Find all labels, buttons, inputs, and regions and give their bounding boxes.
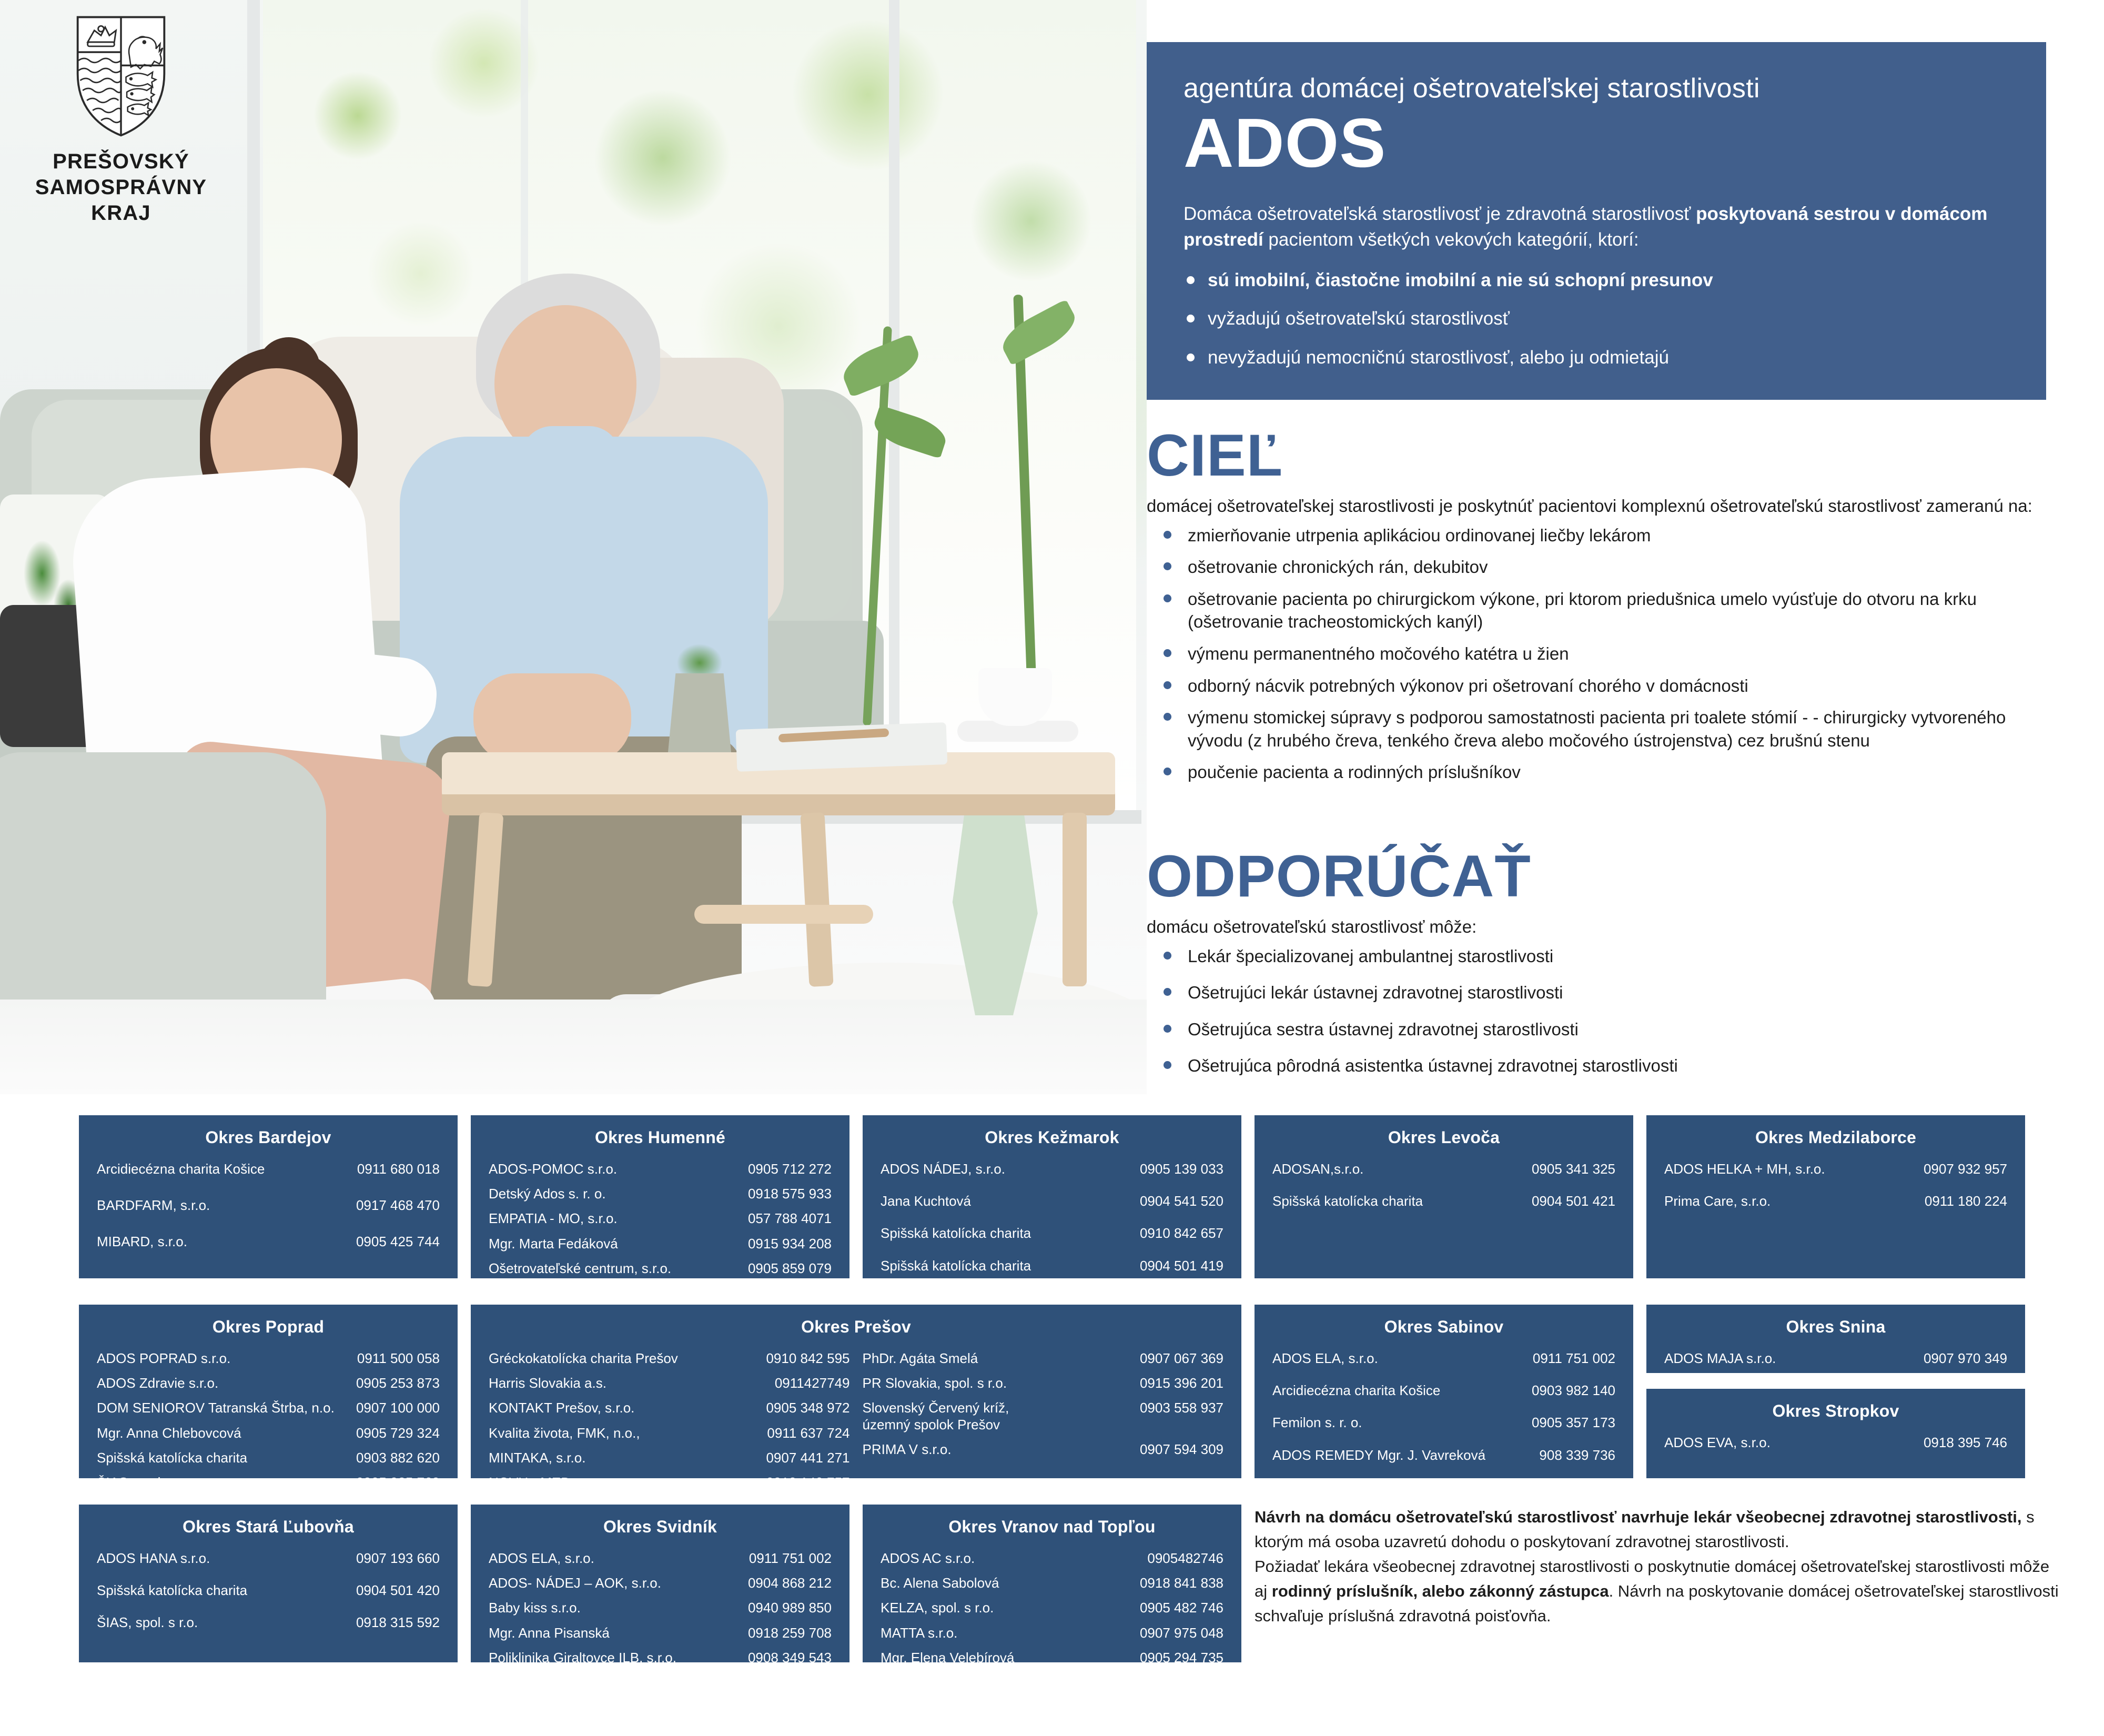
header-lead-part1: Domáca ošetrovateľská starostlivosť je z… bbox=[1183, 204, 1696, 224]
list-item: Ošetrujúci lekár ústavnej zdravotnej sta… bbox=[1147, 981, 2062, 1004]
provider-name: ADOS AC s.r.o. bbox=[881, 1550, 975, 1567]
provider-name: PR Slovakia, spol. s r.o. bbox=[863, 1375, 1007, 1391]
table-row: BARDFARM, s.r.o.0917 468 470 bbox=[97, 1197, 440, 1214]
district-card-levoca: Okres LevočaADOSAN,s.r.o.0905 341 325Spi… bbox=[1255, 1115, 1633, 1278]
provider-phone[interactable]: 0903 558 937 bbox=[1140, 1400, 1223, 1416]
provider-name: ŠIAS, spol. s r.o. bbox=[97, 1475, 198, 1491]
provider-phone[interactable]: 0910 842 657 bbox=[1140, 1225, 1223, 1242]
provider-name: MIBARD, s.r.o. bbox=[97, 1234, 187, 1250]
odporucat-bullet-list: Lekár špecializovanej ambulantnej staros… bbox=[1147, 945, 2062, 1077]
district-card-title: Okres Prešov bbox=[489, 1317, 1223, 1337]
provider-phone[interactable]: 0940 989 850 bbox=[748, 1600, 832, 1616]
provider-name: Mgr. Marta Fedáková bbox=[489, 1236, 618, 1252]
provider-table: ADOS NÁDEJ, s.r.o.0905 139 033Jana Kucht… bbox=[881, 1161, 1223, 1290]
table-row: ADOSAN,s.r.o.0905 341 325 bbox=[1272, 1161, 1615, 1177]
district-card-title: Okres Bardejov bbox=[97, 1128, 440, 1147]
provider-phone[interactable]: 0904 868 212 bbox=[748, 1575, 832, 1591]
district-card-stara-lubovna: Okres Stará ĽubovňaADOS HANA s.r.o.0907 … bbox=[79, 1505, 458, 1662]
table-row: PhDr. Agáta Smelá0907 067 369 bbox=[863, 1350, 1224, 1367]
window-frame-right bbox=[889, 0, 899, 784]
provider-name: Gréckokatolícka charita Prešov bbox=[489, 1350, 678, 1367]
provider-name: KONTAKT Prešov, s.r.o. bbox=[489, 1400, 634, 1416]
district-card-medzilaborce: Okres MedzilaborceADOS HELKA + MH, s.r.o… bbox=[1646, 1115, 2025, 1278]
provider-phone[interactable]: 0911427749 bbox=[775, 1375, 850, 1391]
provider-name: Spišská katolícka charita bbox=[97, 1582, 247, 1599]
table-row: Harris Slovakia a.s.0911427749 bbox=[489, 1375, 850, 1391]
provider-phone[interactable]: 0905 482 746 bbox=[1140, 1600, 1223, 1616]
provider-phone[interactable]: 0905 357 173 bbox=[1532, 1415, 1615, 1431]
clasped-hands bbox=[473, 673, 631, 763]
table-row: Mgr. Elena Velebírová0905 294 735 bbox=[881, 1650, 1223, 1666]
provider-name: Kvalita života, FMK, n.o., bbox=[489, 1425, 640, 1441]
provider-phone[interactable]: 0905 348 972 bbox=[766, 1400, 849, 1416]
table-row: Kvalita života, FMK, n.o.,0911 637 724 bbox=[489, 1425, 850, 1441]
table-row: Arcidiecézna charita Košice0911 680 018 bbox=[97, 1161, 440, 1177]
provider-name: ADOS NÁDEJ, s.r.o. bbox=[881, 1161, 1005, 1177]
list-item: ošetrovanie pacienta po chirurgickom výk… bbox=[1147, 588, 2062, 633]
provider-phone[interactable]: 0915 396 201 bbox=[1140, 1375, 1223, 1391]
provider-table: ADOS HELKA + MH, s.r.o.0907 932 957Prima… bbox=[1664, 1161, 2007, 1225]
table-row: Slovenský Červený kríž, územný spolok Pr… bbox=[863, 1400, 1224, 1432]
list-item: nevyžadujú nemocničnú starostlivosť, ale… bbox=[1183, 345, 2009, 370]
provider-column: ADOS NÁDEJ, s.r.o.0905 139 033Jana Kucht… bbox=[881, 1161, 1223, 1290]
provider-table: ADOS-POMOC s.r.o.0905 712 272Detský Ados… bbox=[489, 1161, 832, 1285]
provider-name: Spišská katolícka charita bbox=[881, 1258, 1031, 1274]
provider-column: PhDr. Agáta Smelá0907 067 369PR Slovakia… bbox=[863, 1350, 1224, 1499]
provider-name: VITUM s. r. o. bbox=[881, 1674, 964, 1691]
provider-phone[interactable]: 0907 594 309 bbox=[1140, 1441, 1223, 1458]
provider-name: ADOS MAJA s.r.o. bbox=[1664, 1350, 1776, 1367]
table-row: ŠIAS, spol. s r.o.0905 925 769 bbox=[97, 1475, 440, 1491]
provider-name: Mgr. Elena Velebírová bbox=[881, 1650, 1014, 1666]
provider-name: Spišská katolícka charita bbox=[97, 1450, 247, 1466]
table-row: Mgr. Marta Fedáková0915 934 208 bbox=[489, 1236, 832, 1252]
provider-phone[interactable]: 0904 501 421 bbox=[1532, 1193, 1615, 1209]
table-leg-3 bbox=[1063, 813, 1087, 986]
provider-phone[interactable]: 0907 970 349 bbox=[1924, 1350, 2007, 1367]
header-lead-part2: pacientom všetkých vekových kategórií, k… bbox=[1263, 229, 1639, 250]
provider-name: Harris Slovakia a.s. bbox=[489, 1375, 606, 1391]
provider-name: MATTA s.r.o. bbox=[881, 1625, 957, 1641]
provider-phone[interactable]: 057 788 4071 bbox=[748, 1210, 832, 1227]
table-row: MIBARD, s.r.o.0905 425 744 bbox=[97, 1234, 440, 1250]
district-card-title: Okres Stropkov bbox=[1664, 1401, 2007, 1421]
district-card-title: Okres Levoča bbox=[1272, 1128, 1615, 1147]
district-card-humenne: Okres HumennéADOS-POMOC s.r.o.0905 712 2… bbox=[471, 1115, 849, 1278]
district-card-svidnik: Okres SvidníkADOS ELA, s.r.o.0911 751 00… bbox=[471, 1505, 849, 1662]
table-row: NOVU - MED center, s. r. o.0919 140 757 bbox=[489, 1475, 850, 1491]
ciel-lead: domácej ošetrovateľskej starostlivosti j… bbox=[1147, 493, 2062, 519]
provider-phone[interactable]: 0905 294 735 bbox=[1140, 1650, 1223, 1666]
table-row: MATTA s.r.o.0907 975 048 bbox=[881, 1625, 1223, 1641]
table-row: ADOS- NÁDEJ – AOK, s.r.o.0904 868 212 bbox=[489, 1575, 832, 1591]
provider-name: NOVU - MED center, s. r. o. bbox=[489, 1475, 656, 1491]
table-row: ADOS-POMOC s.r.o.0905 712 272 bbox=[489, 1161, 832, 1177]
provider-phone[interactable]: 0911 680 018 bbox=[357, 1161, 440, 1177]
provider-phone[interactable]: 0918 315 592 bbox=[356, 1614, 440, 1631]
provider-phone[interactable]: 0907 441 271 bbox=[766, 1450, 849, 1466]
provider-phone[interactable]: 0911 637 724 bbox=[767, 1425, 849, 1441]
header-block: agentúra domácej ošetrovateľskej starost… bbox=[1147, 42, 2046, 400]
provider-table: ADOS EVA, s.r.o.0918 395 746 bbox=[1664, 1435, 2007, 1459]
header-lead: Domáca ošetrovateľská starostlivosť je z… bbox=[1183, 201, 2009, 253]
list-item: poučenie pacienta a rodinných príslušník… bbox=[1147, 761, 2062, 784]
table-row: ADOS AC s.r.o.0905482746 bbox=[881, 1550, 1223, 1567]
provider-phone[interactable]: 0903 882 620 bbox=[356, 1450, 440, 1466]
table-row: ADOS POPRAD s.r.o.0911 500 058 bbox=[97, 1350, 440, 1367]
table-row: DOM SENIOROV Tatranská Štrba, n.o.0907 1… bbox=[97, 1400, 440, 1416]
odporucat-lead: domácu ošetrovateľskú starostlivosť môže… bbox=[1147, 914, 2062, 940]
provider-phone[interactable]: 0911 180 224 bbox=[1925, 1193, 2007, 1209]
provider-phone[interactable]: 0907 100 000 bbox=[356, 1400, 440, 1416]
provider-name: BARDFARM, s.r.o. bbox=[97, 1197, 210, 1214]
provider-phone[interactable]: 0907 932 957 bbox=[1924, 1161, 2007, 1177]
provider-table: ADOS ELA, s.r.o.0911 751 002Arcidiecézna… bbox=[1272, 1350, 1615, 1479]
provider-name: ADOS EVA, s.r.o. bbox=[1664, 1435, 1771, 1451]
table-row: ADOS MAJA s.r.o.0907 970 349 bbox=[1664, 1350, 2007, 1367]
provider-name: ADOS ELA, s.r.o. bbox=[1272, 1350, 1378, 1367]
provider-phone[interactable]: 0908 349 543 bbox=[748, 1650, 832, 1666]
table-row: Detský Ados s. r. o.0918 575 933 bbox=[489, 1186, 832, 1202]
table-leg-2 bbox=[800, 812, 833, 987]
coat-of-arms-icon bbox=[71, 11, 171, 142]
provider-column: ADOS ELA, s.r.o.0911 751 002ADOS- NÁDEJ … bbox=[489, 1550, 832, 1674]
bottom-note: Návrh na domácu ošetrovateľskú starostli… bbox=[1255, 1505, 2065, 1629]
provider-name: Mgr. Anna Pisanská bbox=[489, 1625, 610, 1641]
table-row: Baby kiss s.r.o.0940 989 850 bbox=[489, 1600, 832, 1616]
table-rail bbox=[694, 905, 873, 924]
provider-name: EMPATIA - MO, s.r.o. bbox=[489, 1210, 618, 1227]
provider-phone[interactable]: 0905 925 769 bbox=[356, 1475, 440, 1491]
table-row: ŠIAS, spol. s r.o.0918 315 592 bbox=[97, 1614, 440, 1631]
provider-name: Femilon s. r. o. bbox=[1272, 1415, 1362, 1431]
list-item: Ošetrujúca sestra ústavnej zdravotnej st… bbox=[1147, 1018, 2062, 1041]
provider-name: ADOS HANA s.r.o. bbox=[97, 1550, 210, 1567]
list-item: výmenu stomickej súpravy s podporou samo… bbox=[1147, 706, 2062, 752]
table-row: Poliklinika Giraltovce ILB, s.r.o.0908 3… bbox=[489, 1650, 832, 1666]
table-row: KELZA, spol. s r.o.0905 482 746 bbox=[881, 1600, 1223, 1616]
table-row: ADOS Zdravie s.r.o.0905 253 873 bbox=[97, 1375, 440, 1391]
provider-name: Detský Ados s. r. o. bbox=[489, 1186, 606, 1202]
header-subtitle: agentúra domácej ošetrovateľskej starost… bbox=[1183, 74, 2009, 104]
provider-table: ADOS ELA, s.r.o.0911 751 002ADOS- NÁDEJ … bbox=[489, 1550, 832, 1674]
list-item: zmierňovanie utrpenia aplikáciou ordinov… bbox=[1147, 524, 2062, 547]
provider-name: DOM SENIOROV Tatranská Štrba, n.o. bbox=[97, 1400, 335, 1416]
table-row: PRIMA V s.r.o.0907 594 309 bbox=[863, 1441, 1224, 1458]
provider-phone[interactable]: 0918 395 746 bbox=[1924, 1435, 2007, 1451]
provider-phone[interactable]: 0905 712 272 bbox=[748, 1161, 832, 1177]
provider-name: Bc. Alena Sabolová bbox=[881, 1575, 999, 1591]
odporucat-section: ODPORÚČAŤ domácu ošetrovateľskú starostl… bbox=[1147, 847, 2062, 1091]
provider-column: ADOS-POMOC s.r.o.0905 712 272Detský Ados… bbox=[489, 1161, 832, 1285]
table-row: Femilon s. r. o.0905 357 173 bbox=[1272, 1415, 1615, 1431]
table-row: Spišská katolícka charita0904 501 420 bbox=[97, 1582, 440, 1599]
provider-name: ADOS ELA, s.r.o. bbox=[489, 1550, 594, 1567]
region-logo: PREŠOVSKÝ SAMOSPRÁVNY KRAJ bbox=[32, 11, 210, 242]
district-card-title: Okres Sabinov bbox=[1272, 1317, 1615, 1337]
provider-phone[interactable]: 0911 751 002 bbox=[749, 1550, 832, 1567]
header-bullet-list: sú imobilní, čiastočne imobilní a nie sú… bbox=[1183, 268, 2009, 370]
district-card-title: Okres Humenné bbox=[489, 1128, 832, 1147]
provider-phone[interactable]: 0904 541 520 bbox=[1140, 1193, 1223, 1209]
provider-name: Spišská katolícka charita bbox=[1272, 1193, 1423, 1209]
table-row: EMPATIA - MO, s.r.o.057 788 4071 bbox=[489, 1210, 832, 1227]
provider-name: Baby kiss s.r.o. bbox=[489, 1600, 581, 1616]
provider-phone[interactable]: 0905482746 bbox=[1147, 1550, 1223, 1567]
provider-name: ŠIAS, spol. s r.o. bbox=[97, 1614, 198, 1631]
table-row: Spišská katolícka charita0904 501 419 bbox=[881, 1258, 1223, 1274]
provider-name: PRIMA V s.r.o. bbox=[863, 1441, 952, 1458]
district-card-stropkov: Okres StropkovADOS EVA, s.r.o.0918 395 7… bbox=[1646, 1389, 2025, 1478]
ciel-heading: CIEĽ bbox=[1147, 426, 2062, 485]
provider-name: ADOS- NÁDEJ – AOK, s.r.o. bbox=[489, 1575, 661, 1591]
table-row: MINTAKA, s.r.o.0907 441 271 bbox=[489, 1450, 850, 1466]
district-card-title: Okres Snina bbox=[1664, 1317, 2007, 1337]
table-row: PR Slovakia, spol. s r.o.0915 396 201 bbox=[863, 1375, 1224, 1391]
district-cards: Okres BardejovArcidiecézna charita Košic… bbox=[0, 1115, 2104, 1736]
provider-phone[interactable]: 0915 934 208 bbox=[748, 1236, 832, 1252]
clipboard bbox=[736, 722, 948, 772]
list-item: vyžadujú ošetrovateľskú starostlivosť bbox=[1183, 306, 2009, 331]
provider-name: Spišská katolícka charita bbox=[881, 1225, 1031, 1242]
provider-name: ADOSAN,s.r.o. bbox=[1272, 1161, 1363, 1177]
odporucat-heading: ODPORÚČAŤ bbox=[1147, 847, 2062, 906]
table-row: Spišská katolícka charita0904 501 421 bbox=[1272, 1193, 1615, 1209]
table-row: ADOS NÁDEJ, s.r.o.0905 139 033 bbox=[881, 1161, 1223, 1177]
list-item: ošetrovanie chronických rán, dekubitov bbox=[1147, 556, 2062, 579]
list-item: Lekár špecializovanej ambulantnej staros… bbox=[1147, 945, 2062, 968]
provider-phone[interactable]: 0911 751 002 bbox=[1533, 1350, 1615, 1367]
provider-name: Poliklinika Giraltovce ILB, s.r.o. bbox=[489, 1650, 676, 1666]
table-row: ADOS ELA, s.r.o.0911 751 002 bbox=[489, 1550, 832, 1567]
provider-phone[interactable]: 0910 842 595 bbox=[766, 1350, 849, 1367]
table-row: ADOS HELKA + MH, s.r.o.0907 932 957 bbox=[1664, 1161, 2007, 1177]
coffee-table-edge bbox=[442, 794, 1115, 815]
provider-phone[interactable]: 0907 193 660 bbox=[356, 1550, 440, 1567]
logo-line-1: PREŠOVSKÝ bbox=[32, 149, 210, 175]
district-card-vranov-nad-toplou: Okres Vranov nad TopľouADOS AC s.r.o.090… bbox=[863, 1505, 1241, 1662]
provider-phone[interactable]: 0905 859 079 bbox=[748, 1260, 832, 1277]
provider-table: ADOS AC s.r.o.0905482746Bc. Alena Sabolo… bbox=[881, 1550, 1223, 1699]
provider-name: ADOS HELKA + MH, s.r.o. bbox=[1664, 1161, 1825, 1177]
provider-column: ADOS EVA, s.r.o.0918 395 746 bbox=[1664, 1435, 2007, 1459]
table-row: Arcidiecézna charita Košice0903 982 140 bbox=[1272, 1382, 1615, 1399]
provider-column: Gréckokatolícka charita Prešov0910 842 5… bbox=[489, 1350, 850, 1499]
provider-phone[interactable]: 0918 841 838 bbox=[1140, 1575, 1223, 1591]
provider-name: PhDr. Agáta Smelá bbox=[863, 1350, 978, 1367]
table-row: VITUM s. r. o.0915 915 394 bbox=[881, 1674, 1223, 1691]
table-row: Gréckokatolícka charita Prešov0910 842 5… bbox=[489, 1350, 850, 1367]
logo-line-3: KRAJ bbox=[32, 200, 210, 226]
provider-phone[interactable]: 0907 067 369 bbox=[1140, 1350, 1223, 1367]
provider-phone[interactable]: 0917 468 470 bbox=[356, 1197, 440, 1214]
provider-name: KELZA, spol. s r.o. bbox=[881, 1600, 994, 1616]
provider-phone[interactable]: 0915 915 394 bbox=[1140, 1674, 1223, 1691]
list-item: odborný nácvik potrebných výkonov pri oš… bbox=[1147, 674, 2062, 698]
provider-phone[interactable]: 0905 139 033 bbox=[1140, 1161, 1223, 1177]
district-card-title: Okres Medzilaborce bbox=[1664, 1128, 2007, 1147]
table-row: KONTAKT Prešov, s.r.o.0905 348 972 bbox=[489, 1400, 850, 1416]
note-bold-2: rodinný príslušník, alebo zákonný zástup… bbox=[1272, 1582, 1609, 1600]
table-row: Mgr. Anna Pisanská0918 259 708 bbox=[489, 1625, 832, 1641]
note-bold-1: Návrh na domácu ošetrovateľskú starostli… bbox=[1255, 1508, 2021, 1526]
provider-name: MINTAKA, s.r.o. bbox=[489, 1450, 585, 1466]
provider-name: Mgr. Anna Chlebovcová bbox=[97, 1425, 241, 1441]
ciel-section: CIEĽ domácej ošetrovateľskej starostlivo… bbox=[1147, 426, 2062, 793]
table-row: ADOS REMEDY Mgr. J. Vavreková908 339 736 bbox=[1272, 1447, 1615, 1464]
provider-table: ADOS HANA s.r.o.0907 193 660Spišská kato… bbox=[97, 1550, 440, 1647]
provider-name: ADOS-POMOC s.r.o. bbox=[489, 1161, 617, 1177]
coffee-cup bbox=[978, 668, 1052, 726]
table-row: Spišská katolícka charita0903 882 620 bbox=[97, 1450, 440, 1466]
provider-table: Gréckokatolícka charita Prešov0910 842 5… bbox=[489, 1350, 1223, 1499]
district-card-kezmarok: Okres KežmarokADOS NÁDEJ, s.r.o.0905 139… bbox=[863, 1115, 1241, 1278]
provider-phone[interactable]: 0904 501 420 bbox=[356, 1582, 440, 1599]
header-title: ADOS bbox=[1183, 107, 2009, 180]
provider-name: ADOS Zdravie s.r.o. bbox=[97, 1375, 218, 1391]
table-row: Mgr. Anna Chlebovcová0905 729 324 bbox=[97, 1425, 440, 1441]
list-item: Ošetrujúca pôrodná asistentka ústavnej z… bbox=[1147, 1054, 2062, 1077]
provider-name: Arcidiecézna charita Košice bbox=[1272, 1382, 1440, 1399]
provider-phone[interactable]: 0918 259 708 bbox=[748, 1625, 832, 1641]
list-item: sú imobilní, čiastočne imobilní a nie sú… bbox=[1183, 268, 2009, 292]
district-card-bardejov: Okres BardejovArcidiecézna charita Košic… bbox=[79, 1115, 458, 1278]
provider-phone[interactable]: 0911 500 058 bbox=[357, 1350, 440, 1367]
provider-phone[interactable]: 0918 575 933 bbox=[748, 1186, 832, 1202]
provider-name: Arcidiecézna charita Košice bbox=[97, 1161, 265, 1177]
district-card-title: Okres Svidník bbox=[489, 1517, 832, 1537]
provider-name: Jana Kuchtová bbox=[881, 1193, 971, 1209]
district-card-title: Okres Stará Ľubovňa bbox=[97, 1517, 440, 1537]
provider-phone[interactable]: 0903 982 140 bbox=[1532, 1382, 1615, 1399]
provider-column: ADOS HELKA + MH, s.r.o.0907 932 957Prima… bbox=[1664, 1161, 2007, 1225]
provider-table: Arcidiecézna charita Košice0911 680 018B… bbox=[97, 1161, 440, 1270]
provider-phone[interactable]: 908 339 736 bbox=[1539, 1447, 1615, 1464]
provider-column: ADOS AC s.r.o.0905482746Bc. Alena Sabolo… bbox=[881, 1550, 1223, 1699]
district-card-title: Okres Poprad bbox=[97, 1317, 440, 1337]
district-card-title: Okres Kežmarok bbox=[881, 1128, 1223, 1147]
provider-name: ADOS POPRAD s.r.o. bbox=[97, 1350, 230, 1367]
provider-column: ADOS HANA s.r.o.0907 193 660Spišská kato… bbox=[97, 1550, 440, 1647]
provider-name: Ošetrovateľské centrum, s.r.o. bbox=[489, 1260, 671, 1277]
district-card-sabinov: Okres SabinovADOS ELA, s.r.o.0911 751 00… bbox=[1255, 1305, 1633, 1478]
table-row: ADOS ELA, s.r.o.0911 751 002 bbox=[1272, 1350, 1615, 1367]
table-row: Prima Care, s.r.o.0911 180 224 bbox=[1664, 1193, 2007, 1209]
table-row: ADOS EVA, s.r.o.0918 395 746 bbox=[1664, 1435, 2007, 1451]
logo-line-2: SAMOSPRÁVNY bbox=[32, 175, 210, 200]
provider-phone[interactable]: 0907 975 048 bbox=[1140, 1625, 1223, 1641]
ciel-bullet-list: zmierňovanie utrpenia aplikáciou ordinov… bbox=[1147, 524, 2062, 784]
provider-column: ADOSAN,s.r.o.0905 341 325Spišská katolíc… bbox=[1272, 1161, 1615, 1225]
list-item: výmenu permanentného močového katétra u … bbox=[1147, 642, 2062, 665]
provider-phone[interactable]: 0905 341 325 bbox=[1532, 1161, 1615, 1177]
concrete-pot bbox=[668, 673, 731, 752]
provider-name: Prima Care, s.r.o. bbox=[1664, 1193, 1771, 1209]
district-card-poprad: Okres PopradADOS POPRAD s.r.o.0911 500 0… bbox=[79, 1305, 458, 1478]
table-row: Ošetrovateľské centrum, s.r.o.0905 859 0… bbox=[489, 1260, 832, 1277]
provider-column: ADOS ELA, s.r.o.0911 751 002Arcidiecézna… bbox=[1272, 1350, 1615, 1479]
provider-column: ADOS POPRAD s.r.o.0911 500 058ADOS Zdrav… bbox=[97, 1350, 440, 1499]
provider-phone[interactable]: 0919 140 757 bbox=[766, 1475, 849, 1491]
floor bbox=[0, 1000, 1147, 1094]
table-row: Spišská katolícka charita0910 842 657 bbox=[881, 1225, 1223, 1242]
provider-name: ADOS REMEDY Mgr. J. Vavreková bbox=[1272, 1447, 1485, 1464]
table-row: Bc. Alena Sabolová0918 841 838 bbox=[881, 1575, 1223, 1591]
provider-column: Arcidiecézna charita Košice0911 680 018B… bbox=[97, 1161, 440, 1270]
provider-table: ADOS POPRAD s.r.o.0911 500 058ADOS Zdrav… bbox=[97, 1350, 440, 1499]
provider-table: ADOSAN,s.r.o.0905 341 325Spišská katolíc… bbox=[1272, 1161, 1615, 1225]
district-card-presov: Okres PrešovGréckokatolícka charita Preš… bbox=[471, 1305, 1241, 1478]
table-row: ADOS HANA s.r.o.0907 193 660 bbox=[97, 1550, 440, 1567]
district-card-snina: Okres SninaADOS MAJA s.r.o.0907 970 349G… bbox=[1646, 1305, 2025, 1373]
provider-phone[interactable]: 0905 253 873 bbox=[356, 1375, 440, 1391]
table-row: Jana Kuchtová0904 541 520 bbox=[881, 1193, 1223, 1209]
provider-phone[interactable]: 0905 729 324 bbox=[356, 1425, 440, 1441]
provider-phone[interactable]: 0905 425 744 bbox=[356, 1234, 440, 1250]
provider-phone[interactable]: 0904 501 419 bbox=[1140, 1258, 1223, 1274]
provider-name: Slovenský Červený kríž, územný spolok Pr… bbox=[863, 1400, 1009, 1432]
district-card-title: Okres Vranov nad Topľou bbox=[881, 1517, 1223, 1537]
